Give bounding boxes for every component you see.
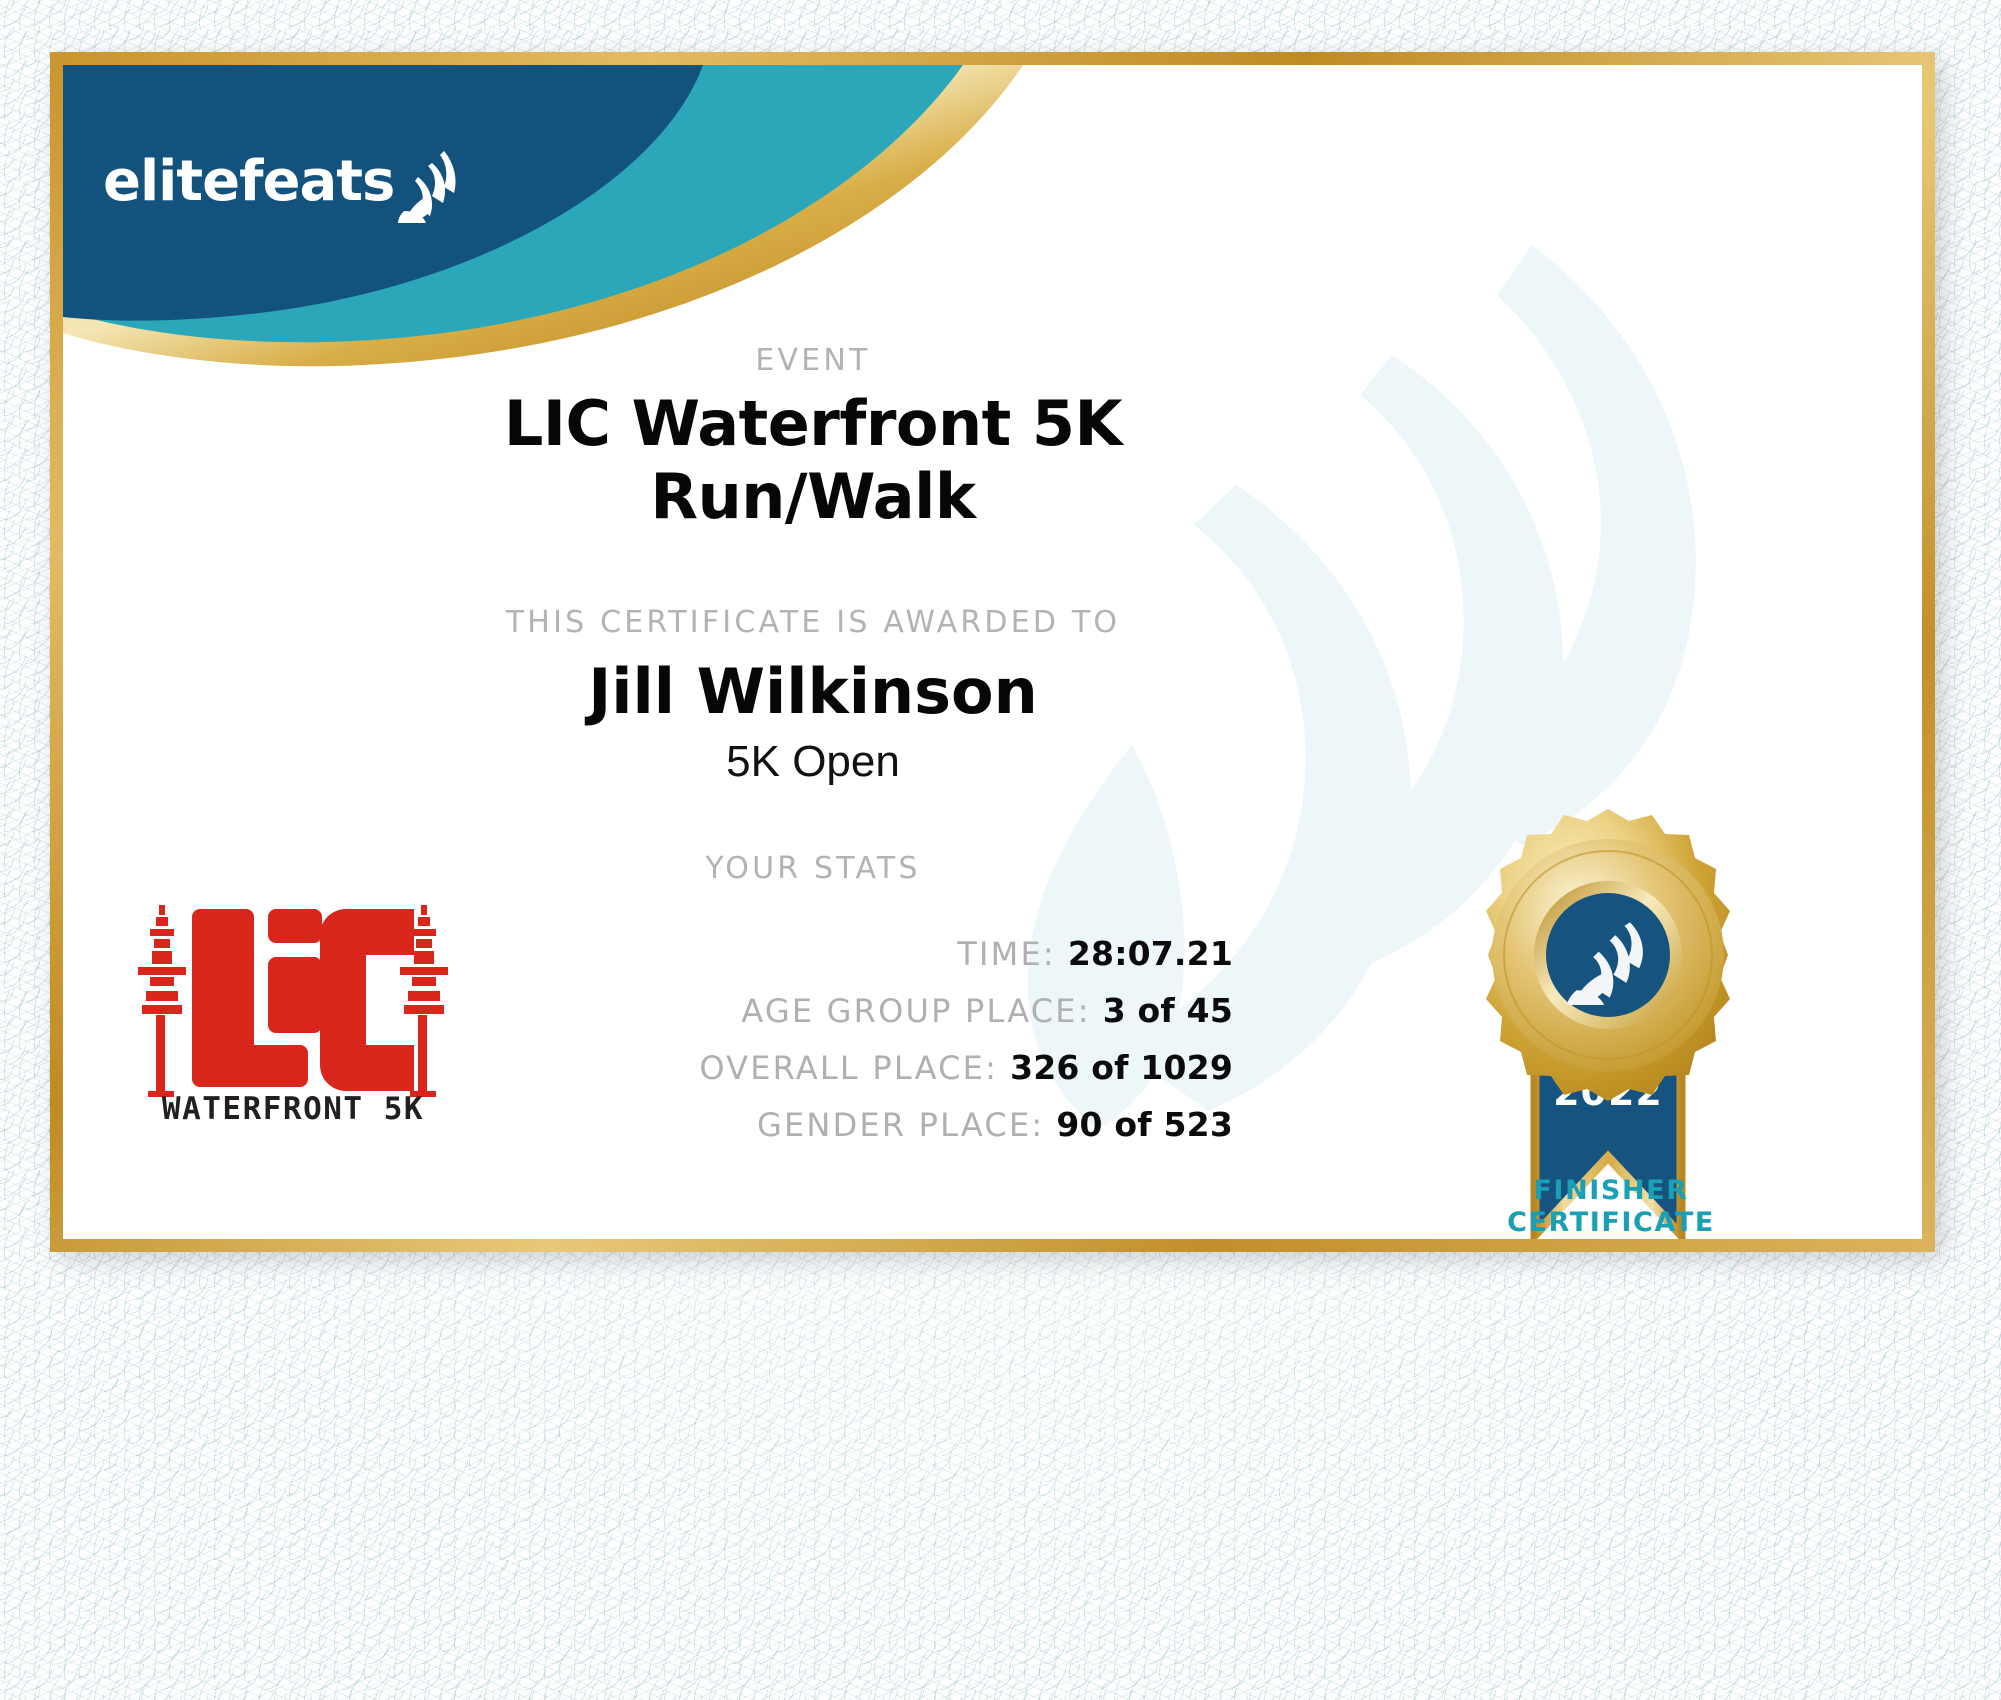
your-stats-label: YOUR STATS xyxy=(393,851,1233,886)
stat-key: GENDER PLACE: xyxy=(757,1106,1044,1144)
division-name: 5K Open xyxy=(393,737,1233,787)
finisher-certificate-caption: FINISHER CERTIFICATE xyxy=(1431,1175,1791,1239)
finisher-caption-line2: CERTIFICATE xyxy=(1431,1207,1791,1239)
winged-foot-icon xyxy=(396,149,466,225)
lic-logo-subtitle: WATERFRONT 5K xyxy=(162,1091,424,1125)
elitefeats-logo: elitefeats xyxy=(103,137,466,225)
elitefeats-logo-text: elitefeats xyxy=(103,149,394,214)
stat-key: TIME: xyxy=(957,935,1056,973)
stat-key: OVERALL PLACE: xyxy=(699,1049,998,1087)
medal-center xyxy=(1546,893,1670,1017)
finisher-caption-line1: FINISHER xyxy=(1431,1175,1791,1207)
event-title: LIC Waterfront 5K Run/Walk xyxy=(373,387,1253,533)
awarded-to-label: THIS CERTIFICATE IS AWARDED TO xyxy=(393,605,1233,640)
recipient-name: Jill Wilkinson xyxy=(393,655,1233,728)
lic-waterfront-5k-logo: WATERFRONT 5K xyxy=(128,895,458,1125)
certificate-card: elitefeats EVENT LIC Waterfront 5K Run/W… xyxy=(50,52,1935,1252)
event-label: EVENT xyxy=(463,343,1163,378)
stat-value: 90 of 523 xyxy=(1056,1105,1233,1144)
medal-starburst xyxy=(1486,809,1730,1101)
stat-value: 28:07.21 xyxy=(1068,934,1233,973)
stat-value: 326 of 1029 xyxy=(1010,1048,1233,1087)
stat-value: 3 of 45 xyxy=(1103,991,1233,1030)
stat-key: AGE GROUP PLACE: xyxy=(741,992,1090,1030)
